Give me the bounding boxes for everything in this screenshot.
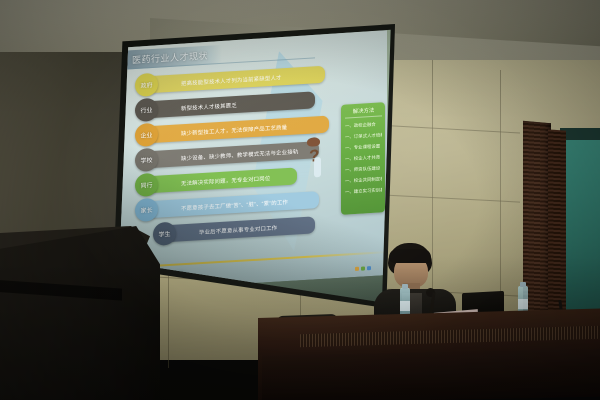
indicator-dot bbox=[361, 266, 365, 270]
question-person-icon: ? bbox=[302, 137, 328, 183]
slide-row-label: 家长 bbox=[140, 205, 152, 215]
slide-row-text: 新型技术人才极其匮乏 bbox=[181, 100, 237, 111]
slide-row-label: 同行 bbox=[140, 180, 152, 190]
louvered-wall-strip-secondary bbox=[548, 129, 566, 320]
solutions-panel-title: 解决方法 bbox=[345, 105, 382, 118]
bottle-cap bbox=[520, 282, 526, 287]
lecture-hall-photo: 医药行业人才现状 把高技能型技术人才列为当前紧缺型人才 政府 新型技术人才极其 bbox=[0, 0, 600, 400]
indicator-dot bbox=[367, 266, 371, 270]
bottle-label bbox=[400, 301, 410, 311]
solutions-panel: 解决方法 一、政校企融合 一、订单式人才培养模式 一、专业课程设置 一、校企人才… bbox=[341, 102, 385, 215]
slide-row-label: 学校 bbox=[140, 155, 152, 165]
slide-row-circle: 企业 bbox=[135, 123, 158, 147]
teal-wall bbox=[560, 140, 600, 330]
slide-row-circle: 政府 bbox=[135, 73, 158, 97]
presentation-slide: 医药行业人才现状 把高技能型技术人才列为当前紧缺型人才 政府 新型技术人才极其 bbox=[119, 30, 387, 291]
question-person-body bbox=[314, 157, 321, 177]
slide-row-circle: 学校 bbox=[135, 148, 158, 172]
slide-row-circle: 同行 bbox=[135, 173, 158, 197]
slide-row-text: 毕业后不愿意从事专业对口工作 bbox=[199, 223, 277, 236]
slide-row-text: 不愿意孩子去工厂做“苦”、“脏”、“累”的工作 bbox=[181, 197, 288, 211]
lectern bbox=[0, 226, 160, 400]
slide-row-text: 把高技能型技术人才列为当前紧缺型人才 bbox=[181, 73, 282, 87]
slide-row-label: 企业 bbox=[140, 130, 152, 140]
bottle-label bbox=[518, 299, 528, 309]
slide-row-text: 无法解决实际问题，无专业对口岗位 bbox=[181, 174, 270, 187]
slide-row-circle: 家长 bbox=[135, 198, 158, 222]
slide-row-circle: 学生 bbox=[153, 222, 176, 246]
slide-row-label: 学生 bbox=[158, 229, 170, 239]
slide-row-text: 缺少设备、缺少教师、教学模式无法与企业接轨 bbox=[181, 147, 298, 162]
slide-row-text: 缺少新型技工人才，无法保障产品工艺质量 bbox=[181, 123, 287, 137]
table-front-panel bbox=[262, 348, 600, 400]
slide-row-circle: 行业 bbox=[135, 98, 158, 122]
speaker-hair-fringe bbox=[389, 249, 431, 263]
bottle-cap bbox=[402, 284, 408, 289]
slide-row-label: 行业 bbox=[140, 105, 152, 115]
solutions-panel-item: 一、建立实习实训基地 bbox=[345, 184, 382, 197]
slide-row-label: 政府 bbox=[140, 80, 152, 90]
indicator-dot bbox=[355, 267, 359, 271]
slide-row-bar: 毕业后不愿意从事专业对口工作 bbox=[165, 216, 315, 242]
